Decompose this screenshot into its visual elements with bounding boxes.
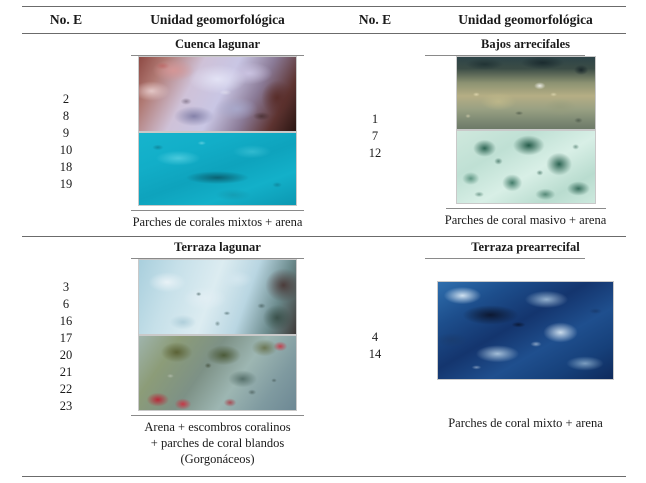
header-col1-no-e: No. E	[22, 12, 110, 28]
geomorphology-table: No. E Unidad geomorfológica No. E Unidad…	[22, 6, 626, 477]
caption-line: Parches de coral masivo + arena	[428, 212, 623, 228]
caption-line: + parches de coral blandos	[115, 435, 320, 451]
station-number: 7	[372, 128, 378, 145]
arena-terraza-photo	[138, 259, 297, 335]
section2-right-station-list: 4 14	[325, 259, 425, 363]
section2-left-photo-stack: Arena + escombros coralinos + parches de…	[110, 259, 325, 467]
section1-left-unit-title: Cuenca lagunar	[110, 37, 325, 52]
section1-left-station-list: 2 8 9 10 18 19	[22, 56, 110, 193]
station-number: 17	[60, 330, 73, 347]
section1-left-photo-stack: Parches de corales mixtos + arena	[110, 56, 325, 230]
station-number: 4	[372, 329, 378, 346]
station-number: 1	[372, 111, 378, 128]
section2-left-station-list: 3 6 16 17 20 21 22 23	[22, 259, 110, 415]
header-col2-unidad: Unidad geomorfológica	[110, 12, 325, 28]
caption-line: Parches de corales mixtos + arena	[115, 214, 320, 230]
section2-unit-titles-row: Terraza lagunar Terraza prearrecifal	[22, 237, 626, 258]
section2-left-caption: Arena + escombros coralinos + parches de…	[115, 419, 320, 467]
station-number: 8	[63, 108, 69, 125]
header-col4-unidad: Unidad geomorfológica	[425, 12, 626, 28]
station-number: 6	[63, 296, 69, 313]
header-col3-no-e: No. E	[325, 12, 425, 28]
section1-right-caption-rule	[446, 208, 606, 209]
section1-body-row: 2 8 9 10 18 19 Parches de corales mixtos…	[22, 56, 626, 230]
terraza-prearrecifal-photo	[437, 281, 614, 380]
station-number: 20	[60, 347, 73, 364]
caption-line: Parches de coral mixto + arena	[428, 415, 623, 431]
section1-right-station-list: 1 7 12	[325, 56, 425, 162]
station-number: 2	[63, 91, 69, 108]
section2-left-caption-rule	[131, 415, 304, 416]
agua-cian-photo	[138, 132, 297, 206]
station-number: 22	[60, 381, 73, 398]
station-number: 18	[60, 159, 73, 176]
section1-right-photo-stack: Parches de coral masivo + arena	[425, 56, 626, 228]
section2-body-row: 3 6 16 17 20 21 22 23 Arena + escombros …	[22, 259, 626, 467]
section2-right-caption: Parches de coral mixto + arena	[428, 415, 623, 431]
table-figure: No. E Unidad geomorfológica No. E Unidad…	[0, 0, 646, 483]
escombros-arrecifales-photo	[456, 56, 596, 130]
section1-unit-titles-row: Cuenca lagunar Bajos arrecifales	[22, 34, 626, 55]
section1-left-caption: Parches de corales mixtos + arena	[115, 214, 320, 230]
station-number: 12	[369, 145, 382, 162]
station-number: 3	[63, 279, 69, 296]
section1-right-unit-title: Bajos arrecifales	[425, 37, 626, 52]
station-number: 16	[60, 313, 73, 330]
table-bottom-rule	[22, 476, 626, 477]
station-number: 19	[60, 176, 73, 193]
section2-right-photo-stack: Parches de coral mixto + arena	[425, 259, 626, 431]
caption-line: Arena + escombros coralinos	[115, 419, 320, 435]
caption-line: (Gorgonáceos)	[115, 451, 320, 467]
section1-left-caption-rule	[131, 210, 304, 211]
section2-right-unit-title: Terraza prearrecifal	[425, 240, 626, 255]
coral-rojo-arena-photo	[138, 56, 297, 132]
table-header-row: No. E Unidad geomorfológica No. E Unidad…	[22, 7, 626, 33]
station-number: 21	[60, 364, 73, 381]
station-number: 10	[60, 142, 73, 159]
section2-left-unit-title: Terraza lagunar	[110, 240, 325, 255]
coral-masivo-verde-photo	[456, 130, 596, 204]
station-number: 9	[63, 125, 69, 142]
station-number: 14	[369, 346, 382, 363]
station-number: 23	[60, 398, 73, 415]
section1-right-caption: Parches de coral masivo + arena	[428, 212, 623, 228]
gorgonaceos-photo	[138, 335, 297, 411]
